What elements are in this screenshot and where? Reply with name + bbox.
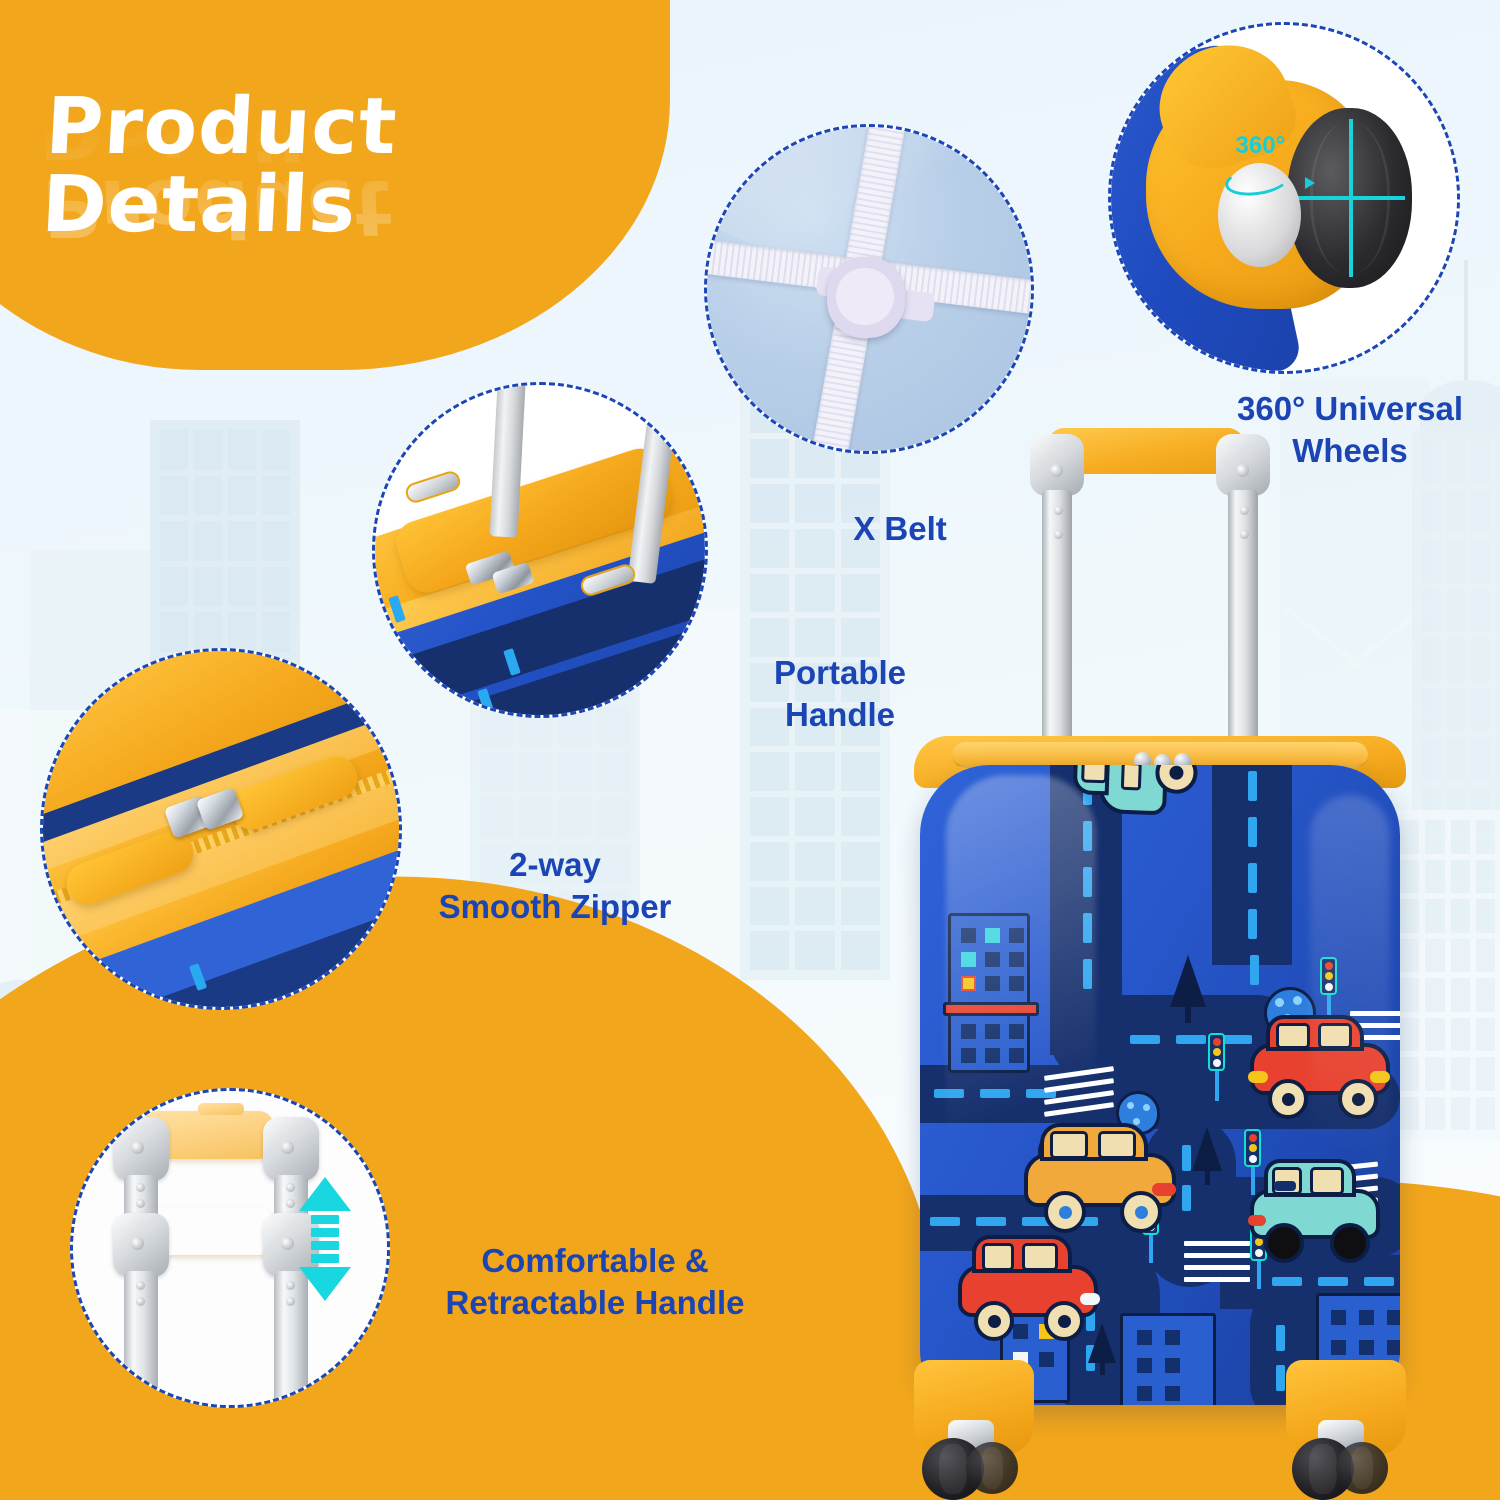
suitcase-shell <box>920 765 1400 1405</box>
printed-pine-tree <box>1170 955 1206 1023</box>
page-title-reflection: Product Details <box>36 90 664 246</box>
printed-pine-tree <box>1088 1323 1116 1375</box>
rotation-arrow-icon <box>1305 177 1315 189</box>
callout-smooth-zipper[interactable] <box>40 648 402 1010</box>
label-retractable-handle: Comfortable & Retractable Handle <box>395 1240 795 1324</box>
caster-wheel-photo: 360° <box>1111 25 1457 371</box>
infographic-canvas: Product Details Product Details X Belt <box>0 0 1500 1500</box>
spinner-wheel-icon <box>966 1442 1018 1494</box>
belt-buckle-icon <box>827 257 905 338</box>
callout-x-belt[interactable] <box>704 124 1034 454</box>
page-title-block: Product Details Product Details <box>44 88 664 402</box>
callout-portable-handle[interactable] <box>372 382 708 718</box>
retractable-handle-photo <box>73 1091 387 1405</box>
spinner-wheel-icon <box>1336 1442 1388 1494</box>
arrow-up-icon <box>299 1177 351 1237</box>
antenna-spire-icon <box>1464 260 1468 380</box>
callout-retractable-handle[interactable] <box>70 1088 390 1408</box>
rotation-degree-badge: 360° <box>1236 132 1286 160</box>
wheel-tyre-icon <box>1287 108 1412 288</box>
telescoping-rod <box>124 1271 158 1405</box>
shell-highlight <box>1310 795 1390 1315</box>
zipper-photo <box>43 651 399 1007</box>
shell-highlight <box>946 775 1096 1245</box>
product-suitcase[interactable] <box>900 420 1420 1500</box>
portable-handle-photo <box>375 385 705 715</box>
x-belt-photo <box>707 127 1031 451</box>
label-smooth-zipper: 2-way Smooth Zipper <box>395 844 715 928</box>
printed-pine-tree <box>1192 1127 1222 1185</box>
printed-building <box>1120 1313 1216 1405</box>
arrow-down-icon <box>299 1237 351 1301</box>
callout-universal-wheels[interactable]: 360° <box>1108 22 1460 374</box>
